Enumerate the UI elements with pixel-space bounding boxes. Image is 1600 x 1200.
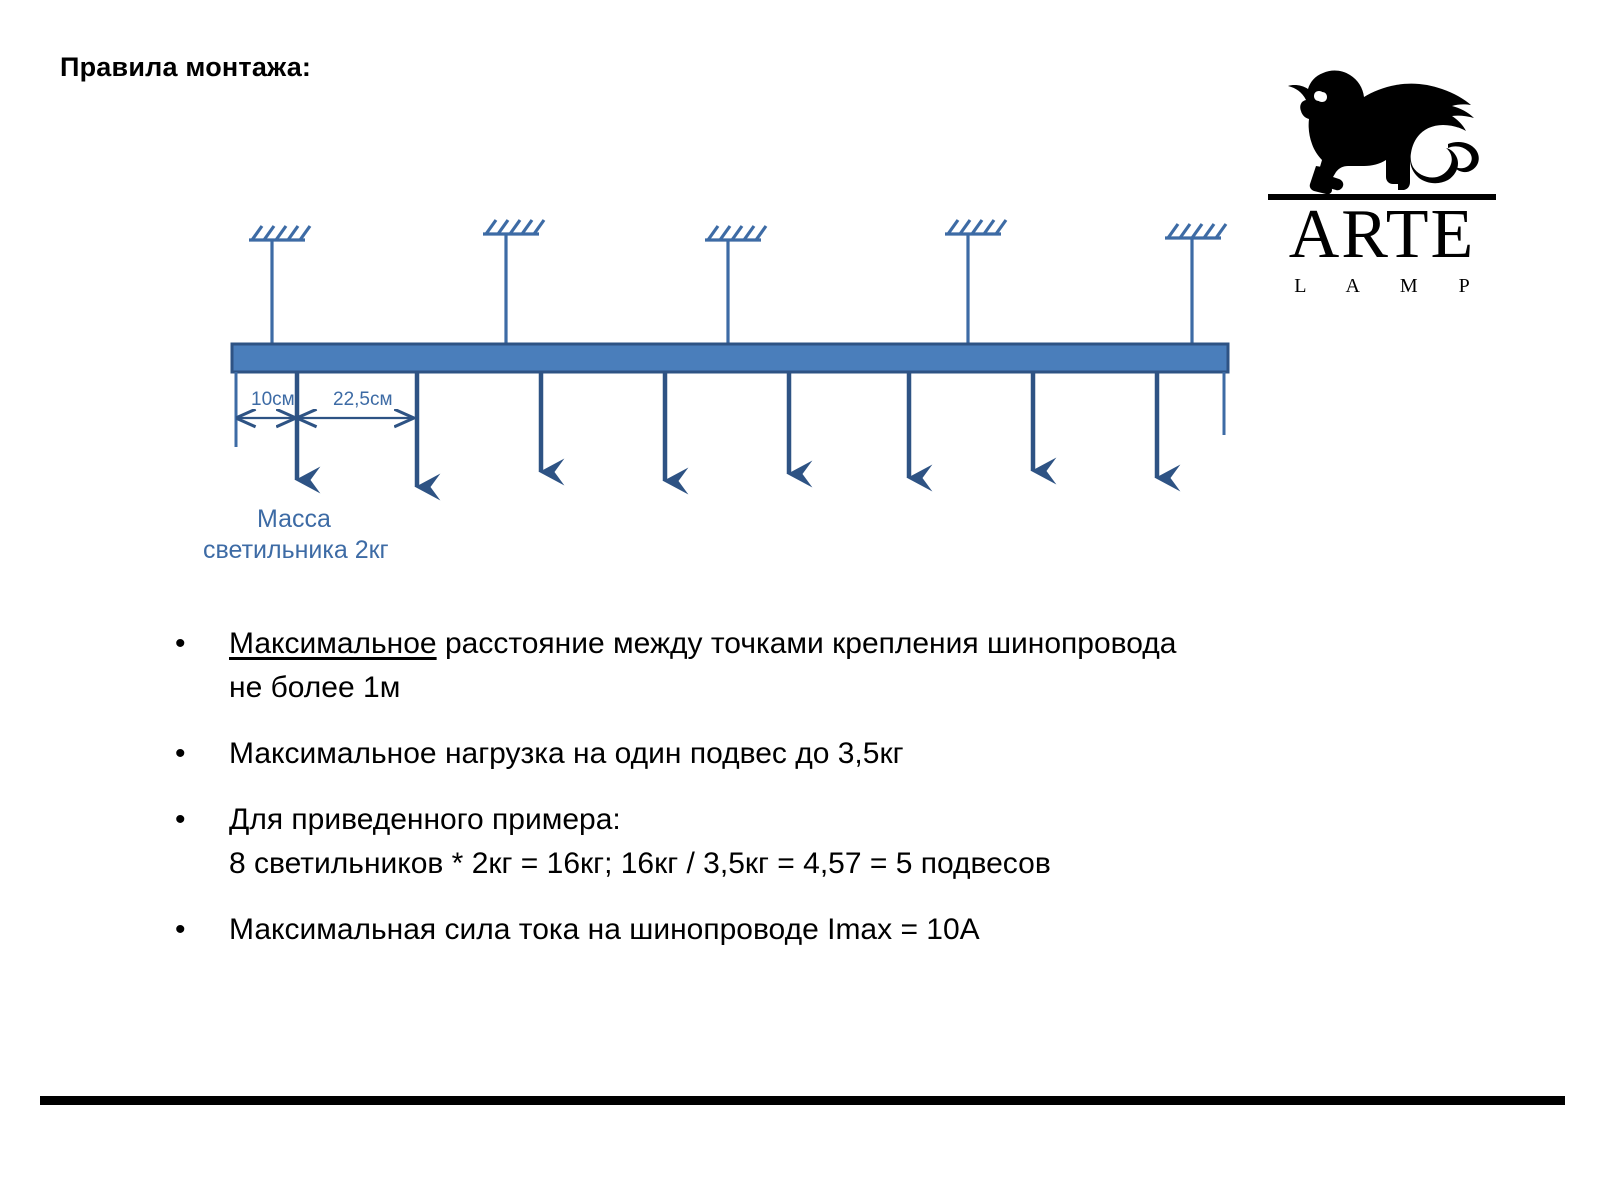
list-item-text: Максимальное расстояние между точками кр… bbox=[229, 622, 1423, 710]
busbar bbox=[232, 344, 1228, 372]
list-item: • Для приведенного примера: 8 светильник… bbox=[163, 798, 1423, 886]
bullet-marker: • bbox=[163, 732, 229, 776]
ceiling-mount-icon bbox=[483, 220, 544, 346]
brand-logo: ARTE L A M P bbox=[1262, 48, 1502, 288]
logo-submark: L A M P bbox=[1262, 276, 1502, 296]
list-item-text: Максимальное нагрузка на один подвес до … bbox=[229, 732, 1423, 776]
list-item-text: Максимальная сила тока на шинопроводе Im… bbox=[229, 908, 1423, 952]
ceiling-mount-icon bbox=[945, 220, 1006, 346]
load-arrow-group bbox=[297, 372, 1157, 487]
mass-caption-line2: светильника 2кг bbox=[203, 536, 389, 564]
page-title: Правила монтажа: bbox=[60, 52, 311, 83]
bullet-marker: • bbox=[163, 908, 229, 952]
list-item-text: Для приведенного примера: 8 светильников… bbox=[229, 798, 1423, 886]
mass-caption-line1: Масса bbox=[257, 505, 331, 533]
dimension-label-22-5cm: 22,5см bbox=[333, 389, 393, 410]
dimension-label-10cm: 10см bbox=[251, 389, 295, 410]
logo-wordmark: ARTE bbox=[1262, 200, 1502, 270]
list-item-line: Максимальная сила тока на шинопроводе Im… bbox=[229, 908, 1423, 952]
bullet-marker: • bbox=[163, 622, 229, 666]
ceiling-mount-icon bbox=[249, 226, 310, 346]
emphasized-text: Максимальное bbox=[229, 627, 437, 660]
list-item-line: не более 1м bbox=[229, 666, 1423, 710]
list-item-line: расстояние между точками крепления шиноп… bbox=[437, 627, 1177, 660]
list-item: • Максимальное расстояние между точками … bbox=[163, 622, 1423, 710]
winged-lion-icon bbox=[1262, 48, 1502, 208]
footer-divider bbox=[40, 1096, 1565, 1105]
list-item-line: 8 светильников * 2кг = 16кг; 16кг / 3,5к… bbox=[229, 842, 1423, 886]
list-item: • Максимальное нагрузка на один подвес д… bbox=[163, 732, 1423, 776]
ceiling-mount-icon bbox=[705, 226, 766, 346]
list-item: • Максимальная сила тока на шинопроводе … bbox=[163, 908, 1423, 952]
list-item-line: Максимальное нагрузка на один подвес до … bbox=[229, 732, 1423, 776]
ceiling-mount-group bbox=[249, 220, 1226, 346]
rules-bullet-list: • Максимальное расстояние между точками … bbox=[163, 622, 1423, 974]
list-item-line: Для приведенного примера: bbox=[229, 798, 1423, 842]
ceiling-mount-icon bbox=[1165, 224, 1226, 346]
bullet-marker: • bbox=[163, 798, 229, 842]
